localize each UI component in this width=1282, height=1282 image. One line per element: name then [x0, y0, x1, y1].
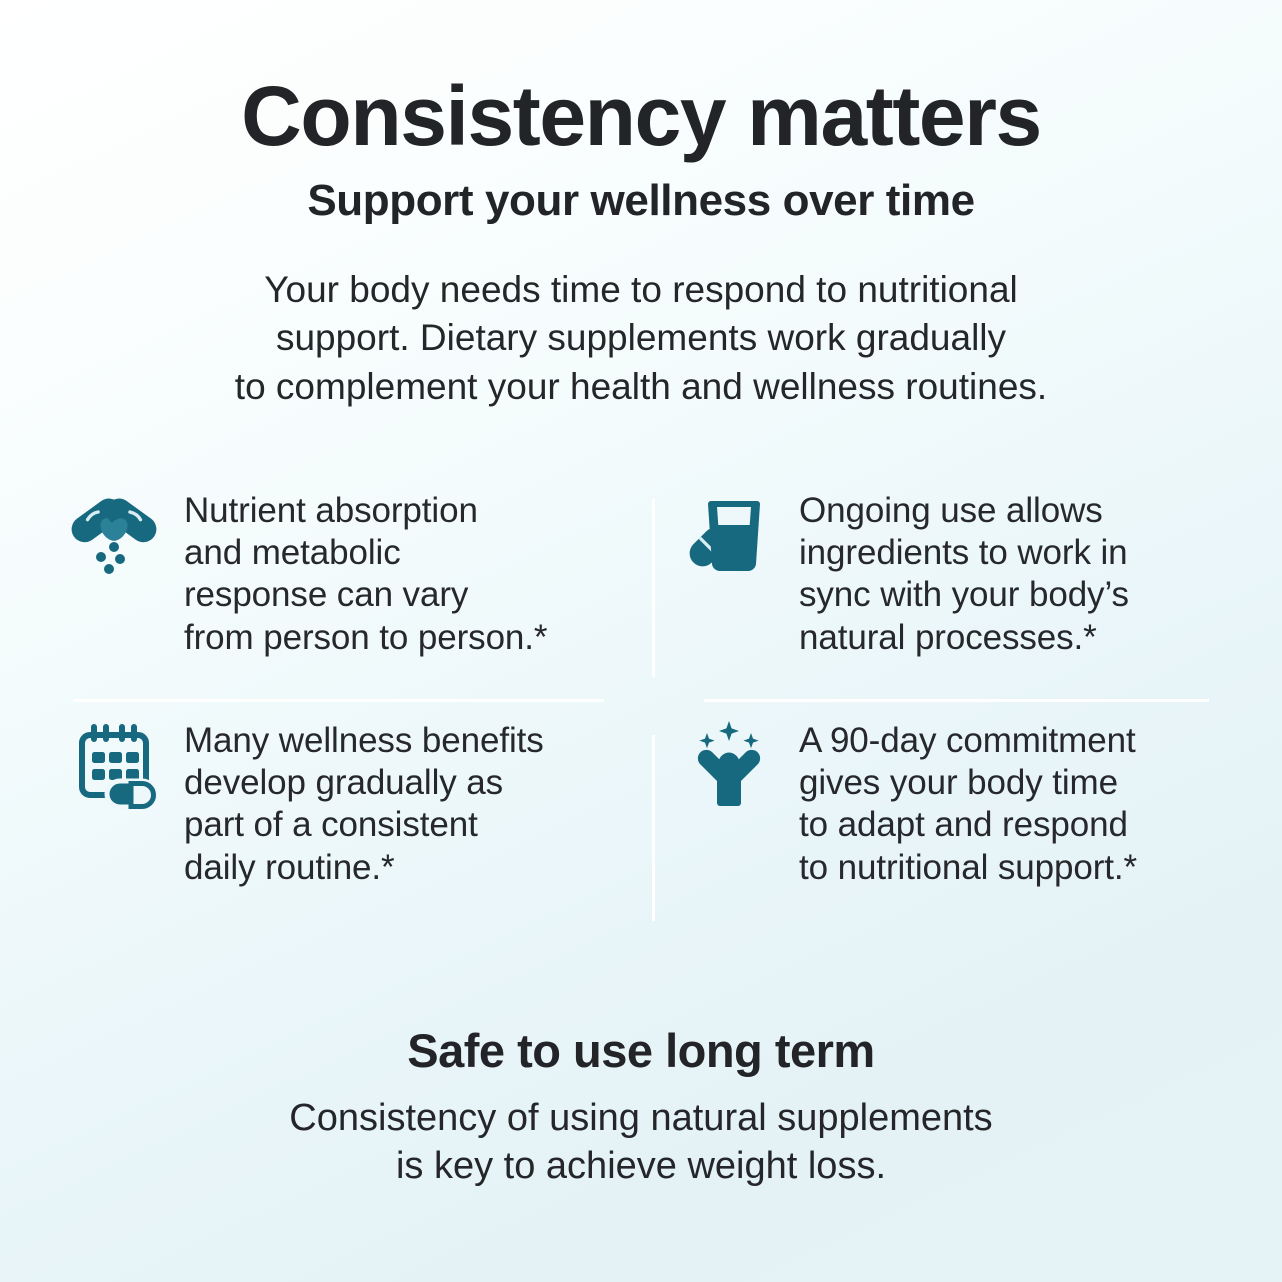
feature-text-line: and metabolic	[184, 532, 547, 574]
feature-item-daily-routine: Many wellness benefits develop gradually…	[66, 699, 651, 921]
feature-text-line: Ongoing use allows	[799, 490, 1129, 532]
grid-divider-vertical-top	[652, 499, 655, 677]
feature-text-line: develop gradually as	[184, 762, 544, 804]
intro-line: support. Dietary supplements work gradua…	[141, 314, 1141, 362]
feature-text-line: from person to person.*	[184, 617, 547, 659]
open-capsule-granules-icon	[66, 487, 162, 585]
infographic-poster: Consistency matters Support your wellnes…	[0, 0, 1282, 1282]
page-subtitle: Support your wellness over time	[0, 177, 1282, 225]
grid-divider-horizontal-right	[704, 699, 1209, 702]
feature-text-line: part of a consistent	[184, 804, 544, 846]
celebrating-person-sparkles-icon	[681, 717, 777, 815]
feature-text-line: Many wellness benefits	[184, 720, 544, 762]
feature-text-line: Nutrient absorption	[184, 490, 547, 532]
footer-line: Consistency of using natural supplements	[0, 1095, 1282, 1143]
calendar-pill-icon	[66, 717, 162, 815]
feature-item-text: Many wellness benefits develop gradually…	[184, 717, 544, 889]
footer-title: Safe to use long term	[0, 1025, 1282, 1077]
footer-section: Safe to use long term Consistency of usi…	[0, 1025, 1282, 1191]
feature-item-text: Ongoing use allows ingredients to work i…	[799, 487, 1129, 659]
feature-text-line: A 90-day commitment	[799, 720, 1137, 762]
feature-item-text: Nutrient absorption and metabolic respon…	[184, 487, 547, 659]
water-glass-pill-icon	[681, 487, 777, 585]
feature-text-line: to adapt and respond	[799, 804, 1137, 846]
grid-divider-horizontal-left	[74, 699, 604, 702]
footer-subtitle: Consistency of using natural supplements…	[0, 1095, 1282, 1191]
feature-item-nutrient-absorption: Nutrient absorption and metabolic respon…	[66, 477, 651, 699]
footer-line: is key to achieve weight loss.	[0, 1143, 1282, 1191]
feature-grid: Nutrient absorption and metabolic respon…	[66, 477, 1216, 921]
feature-text-line: natural processes.*	[799, 617, 1129, 659]
feature-text-line: gives your body time	[799, 762, 1137, 804]
feature-item-90-day-commitment: A 90-day commitment gives your body time…	[651, 699, 1216, 921]
feature-text-line: daily routine.*	[184, 847, 544, 889]
feature-text-line: sync with your body’s	[799, 574, 1129, 616]
feature-text-line: response can vary	[184, 574, 547, 616]
feature-item-text: A 90-day commitment gives your body time…	[799, 717, 1137, 889]
feature-text-line: ingredients to work in	[799, 532, 1129, 574]
feature-item-ongoing-use: Ongoing use allows ingredients to work i…	[651, 477, 1216, 699]
feature-text-line: to nutritional support.*	[799, 847, 1137, 889]
intro-line: Your body needs time to respond to nutri…	[141, 266, 1141, 314]
header-section: Consistency matters Support your wellnes…	[0, 0, 1282, 411]
page-title: Consistency matters	[0, 74, 1282, 158]
intro-line: to complement your health and wellness r…	[141, 363, 1141, 411]
intro-paragraph: Your body needs time to respond to nutri…	[141, 266, 1141, 410]
grid-divider-vertical-bottom	[652, 735, 655, 921]
